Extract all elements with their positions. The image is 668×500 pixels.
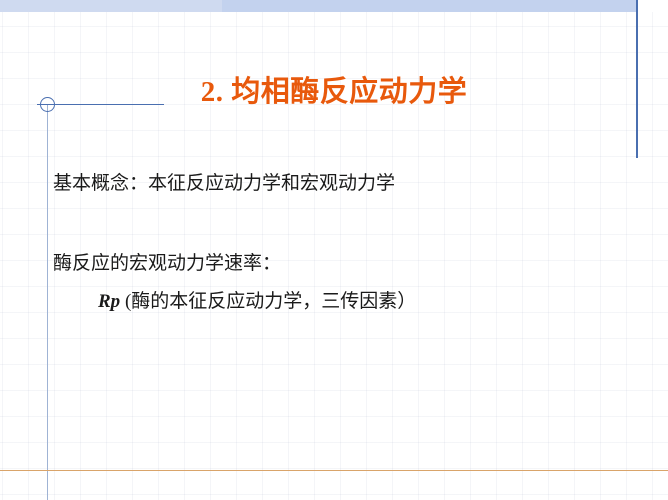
slide-title-text: 均相酶反应动力学 [231,76,467,108]
left-vertical-rule [47,104,48,500]
body-line-formula: Rp (酶的本征反应动力学，三传因素） [98,286,416,313]
formula-symbol: Rp [98,291,120,312]
top-banner-band-accent [222,0,636,12]
slide-title-number: 2. [201,76,224,108]
formula-expression: (酶的本征反应动力学，三传因素） [125,291,416,312]
body-line-concepts: 基本概念：本征反应动力学和宏观动力学 [53,168,395,195]
slide-title: 2. 均相酶反应动力学 [0,68,668,110]
bottom-horizontal-rule [0,470,668,471]
body-line-macro-rate: 酶反应的宏观动力学速率： [53,248,281,275]
slide-canvas: 2. 均相酶反应动力学 基本概念：本征反应动力学和宏观动力学 酶反应的宏观动力学… [0,0,668,500]
top-banner-right-gap [636,0,668,12]
